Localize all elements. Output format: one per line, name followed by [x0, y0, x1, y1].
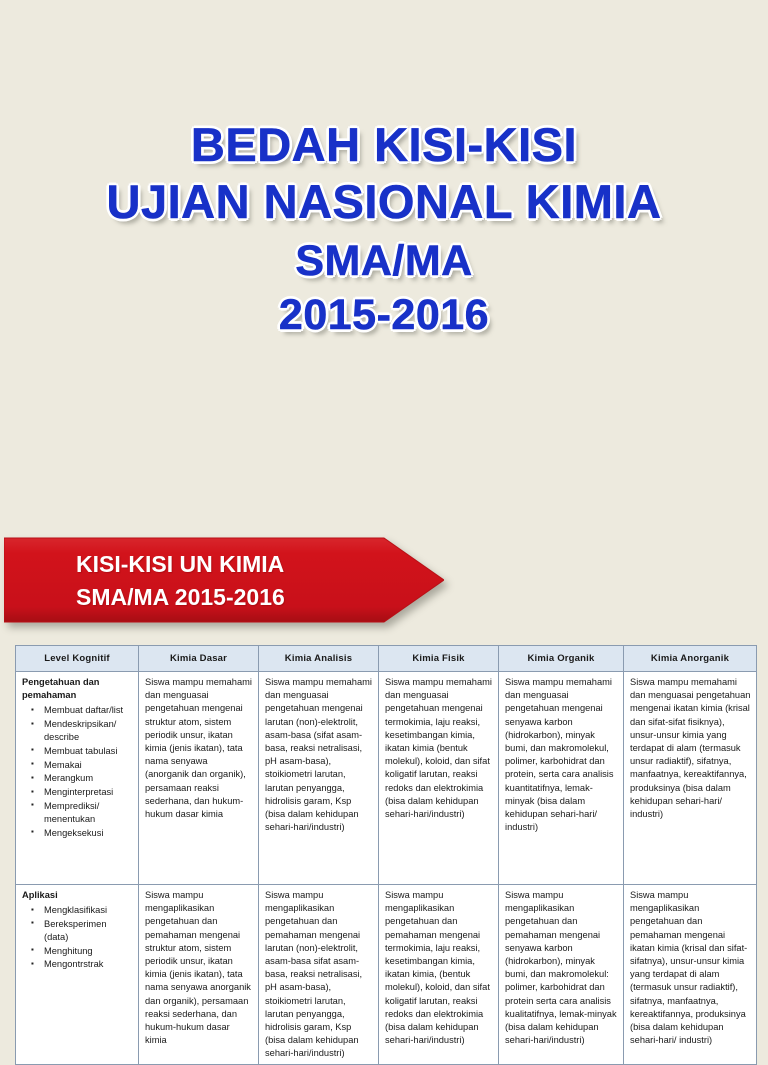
table-row: Aplikasi Mengklasifikasi Bereksperimen (… [16, 885, 757, 1065]
kisi-kisi-banner: KISI-KISI UN KIMIA SMA/MA 2015-2016 [4, 530, 444, 630]
list-item: Memprediksi/ menentukan [44, 800, 133, 826]
table-row: Pengetahuan dan pemahaman Membuat daftar… [16, 672, 757, 885]
title-line-2: UJIAN NASIONAL KIMIA [0, 177, 768, 228]
cell-kimia-dasar: Siswa mampu mengaplikasikan pengetahuan … [139, 885, 259, 1065]
kisi-kisi-table: Level Kognitif Kimia Dasar Kimia Analisi… [15, 645, 757, 1065]
banner-text: KISI-KISI UN KIMIA SMA/MA 2015-2016 [76, 548, 406, 615]
list-item: Menginterpretasi [44, 786, 133, 799]
level-kognitif-cell: Aplikasi Mengklasifikasi Bereksperimen (… [16, 885, 139, 1065]
kisi-kisi-table-wrapper: Level Kognitif Kimia Dasar Kimia Analisi… [15, 645, 756, 1065]
list-item: Mengeksekusi [44, 827, 133, 840]
list-item: Membuat tabulasi [44, 745, 133, 758]
cell-kimia-anorganik: Siswa mampu mengaplikasikan pengetahuan … [624, 885, 757, 1065]
cell-kimia-analisis: Siswa mampu memahami dan menguasai penge… [259, 672, 379, 885]
list-item: Memakai [44, 759, 133, 772]
cell-kimia-fisik: Siswa mampu memahami dan menguasai penge… [379, 672, 499, 885]
banner-line-1: KISI-KISI UN KIMIA [76, 548, 406, 581]
column-header-kimia-organik: Kimia Organik [499, 646, 624, 672]
cell-kimia-organik: Siswa mampu mengaplikasikan pengetahuan … [499, 885, 624, 1065]
column-header-kimia-anorganik: Kimia Anorganik [624, 646, 757, 672]
list-item: Merangkum [44, 772, 133, 785]
list-item: Menghitung [44, 945, 133, 958]
column-header-kimia-dasar: Kimia Dasar [139, 646, 259, 672]
column-header-kimia-fisik: Kimia Fisik [379, 646, 499, 672]
list-item: Mendeskripsikan/ describe [44, 718, 133, 744]
list-item: Membuat daftar/list [44, 704, 133, 717]
level-title: Aplikasi [22, 889, 133, 902]
title-line-3: SMA/MA [0, 238, 768, 284]
list-item: Mengontrstrak [44, 958, 133, 971]
table-header-row: Level Kognitif Kimia Dasar Kimia Analisi… [16, 646, 757, 672]
column-header-kimia-analisis: Kimia Analisis [259, 646, 379, 672]
cell-kimia-fisik: Siswa mampu mengaplikasikan pengetahuan … [379, 885, 499, 1065]
list-item: Bereksperimen (data) [44, 918, 133, 944]
list-item: Mengklasifikasi [44, 904, 133, 917]
cell-kimia-dasar: Siswa mampu memahami dan menguasai penge… [139, 672, 259, 885]
level-kognitif-cell: Pengetahuan dan pemahaman Membuat daftar… [16, 672, 139, 885]
banner-line-2: SMA/MA 2015-2016 [76, 581, 406, 614]
cell-kimia-organik: Siswa mampu memahami dan menguasai penge… [499, 672, 624, 885]
title-line-4: 2015-2016 [0, 292, 768, 338]
cell-kimia-anorganik: Siswa mampu memahami dan menguasai penge… [624, 672, 757, 885]
column-header-level-kognitif: Level Kognitif [16, 646, 139, 672]
level-item-list: Membuat daftar/list Mendeskripsikan/ des… [22, 704, 133, 839]
slide-title-block: BEDAH KISI-KISI UJIAN NASIONAL KIMIA SMA… [0, 120, 768, 344]
title-line-1: BEDAH KISI-KISI [0, 120, 768, 171]
cell-kimia-analisis: Siswa mampu mengaplikasikan pengetahuan … [259, 885, 379, 1065]
level-item-list: Mengklasifikasi Bereksperimen (data) Men… [22, 904, 133, 971]
level-title: Pengetahuan dan pemahaman [22, 676, 133, 702]
